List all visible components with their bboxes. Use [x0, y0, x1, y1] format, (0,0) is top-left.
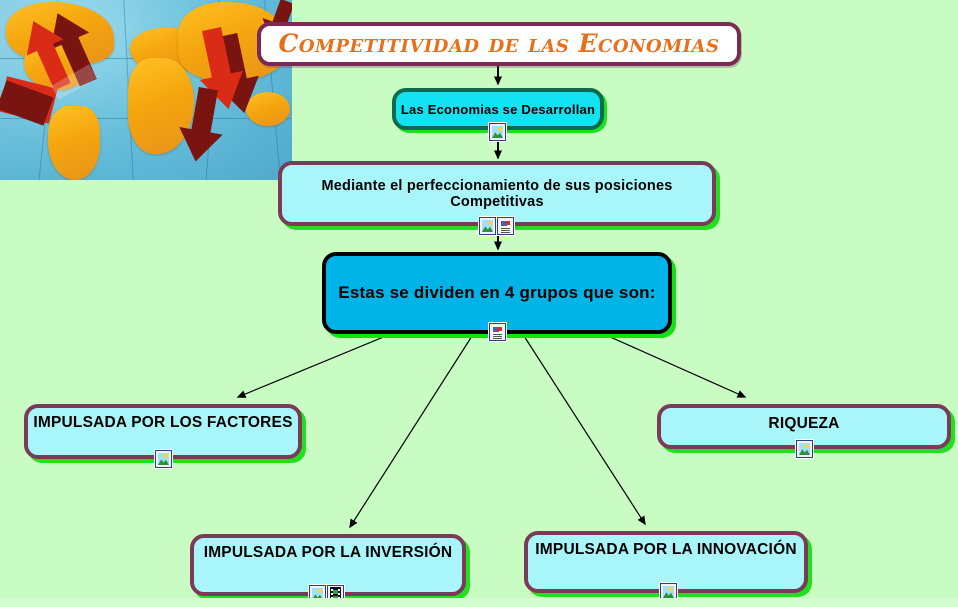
node-estas-se-dividen-grupos[interactable]: Estas se dividen en 4 grupos que son:: [322, 252, 672, 334]
map-title-label: Competitividad de las Economias: [261, 31, 737, 58]
canvas-bottom-edge: [0, 598, 958, 607]
icon-tray-economias: [489, 123, 506, 141]
document-icon[interactable]: [489, 323, 506, 341]
map-title-node[interactable]: Competitividad de las Economias: [257, 22, 741, 66]
node-label: IMPULSADA POR LA INNOVACIÓN: [528, 535, 804, 559]
node-label: RIQUEZA: [661, 408, 947, 433]
connector-grupos-riqueza: [608, 336, 745, 397]
connector-grupos-factores: [238, 336, 386, 397]
icon-tray-factores: [155, 450, 172, 468]
node-label: IMPULSADA POR LOS FACTORES: [28, 408, 298, 432]
node-label: Las Economias se Desarrollan: [396, 102, 600, 117]
picture-icon[interactable]: [479, 217, 496, 235]
picture-icon[interactable]: [796, 440, 813, 458]
icon-tray-grupos: [489, 323, 506, 341]
connector-grupos-inversion: [350, 336, 472, 527]
connector-grupos-innovacion: [524, 336, 645, 524]
icon-tray-mediante: [479, 217, 514, 235]
node-label: IMPULSADA POR LA INVERSIÓN: [194, 538, 462, 562]
icon-tray-riqueza: [796, 440, 813, 458]
world-map-illustration: [0, 0, 292, 180]
node-label: Mediante el perfeccionamiento de sus pos…: [282, 178, 712, 210]
picture-icon[interactable]: [155, 450, 172, 468]
document-icon[interactable]: [497, 217, 514, 235]
node-label: Estas se dividen en 4 grupos que son:: [326, 283, 668, 303]
map-continent-australia: [246, 92, 290, 126]
concept-map-canvas: Competitividad de las Economias Las Econ…: [0, 0, 958, 607]
picture-icon[interactable]: [489, 123, 506, 141]
map-continent-south-america: [48, 106, 100, 180]
